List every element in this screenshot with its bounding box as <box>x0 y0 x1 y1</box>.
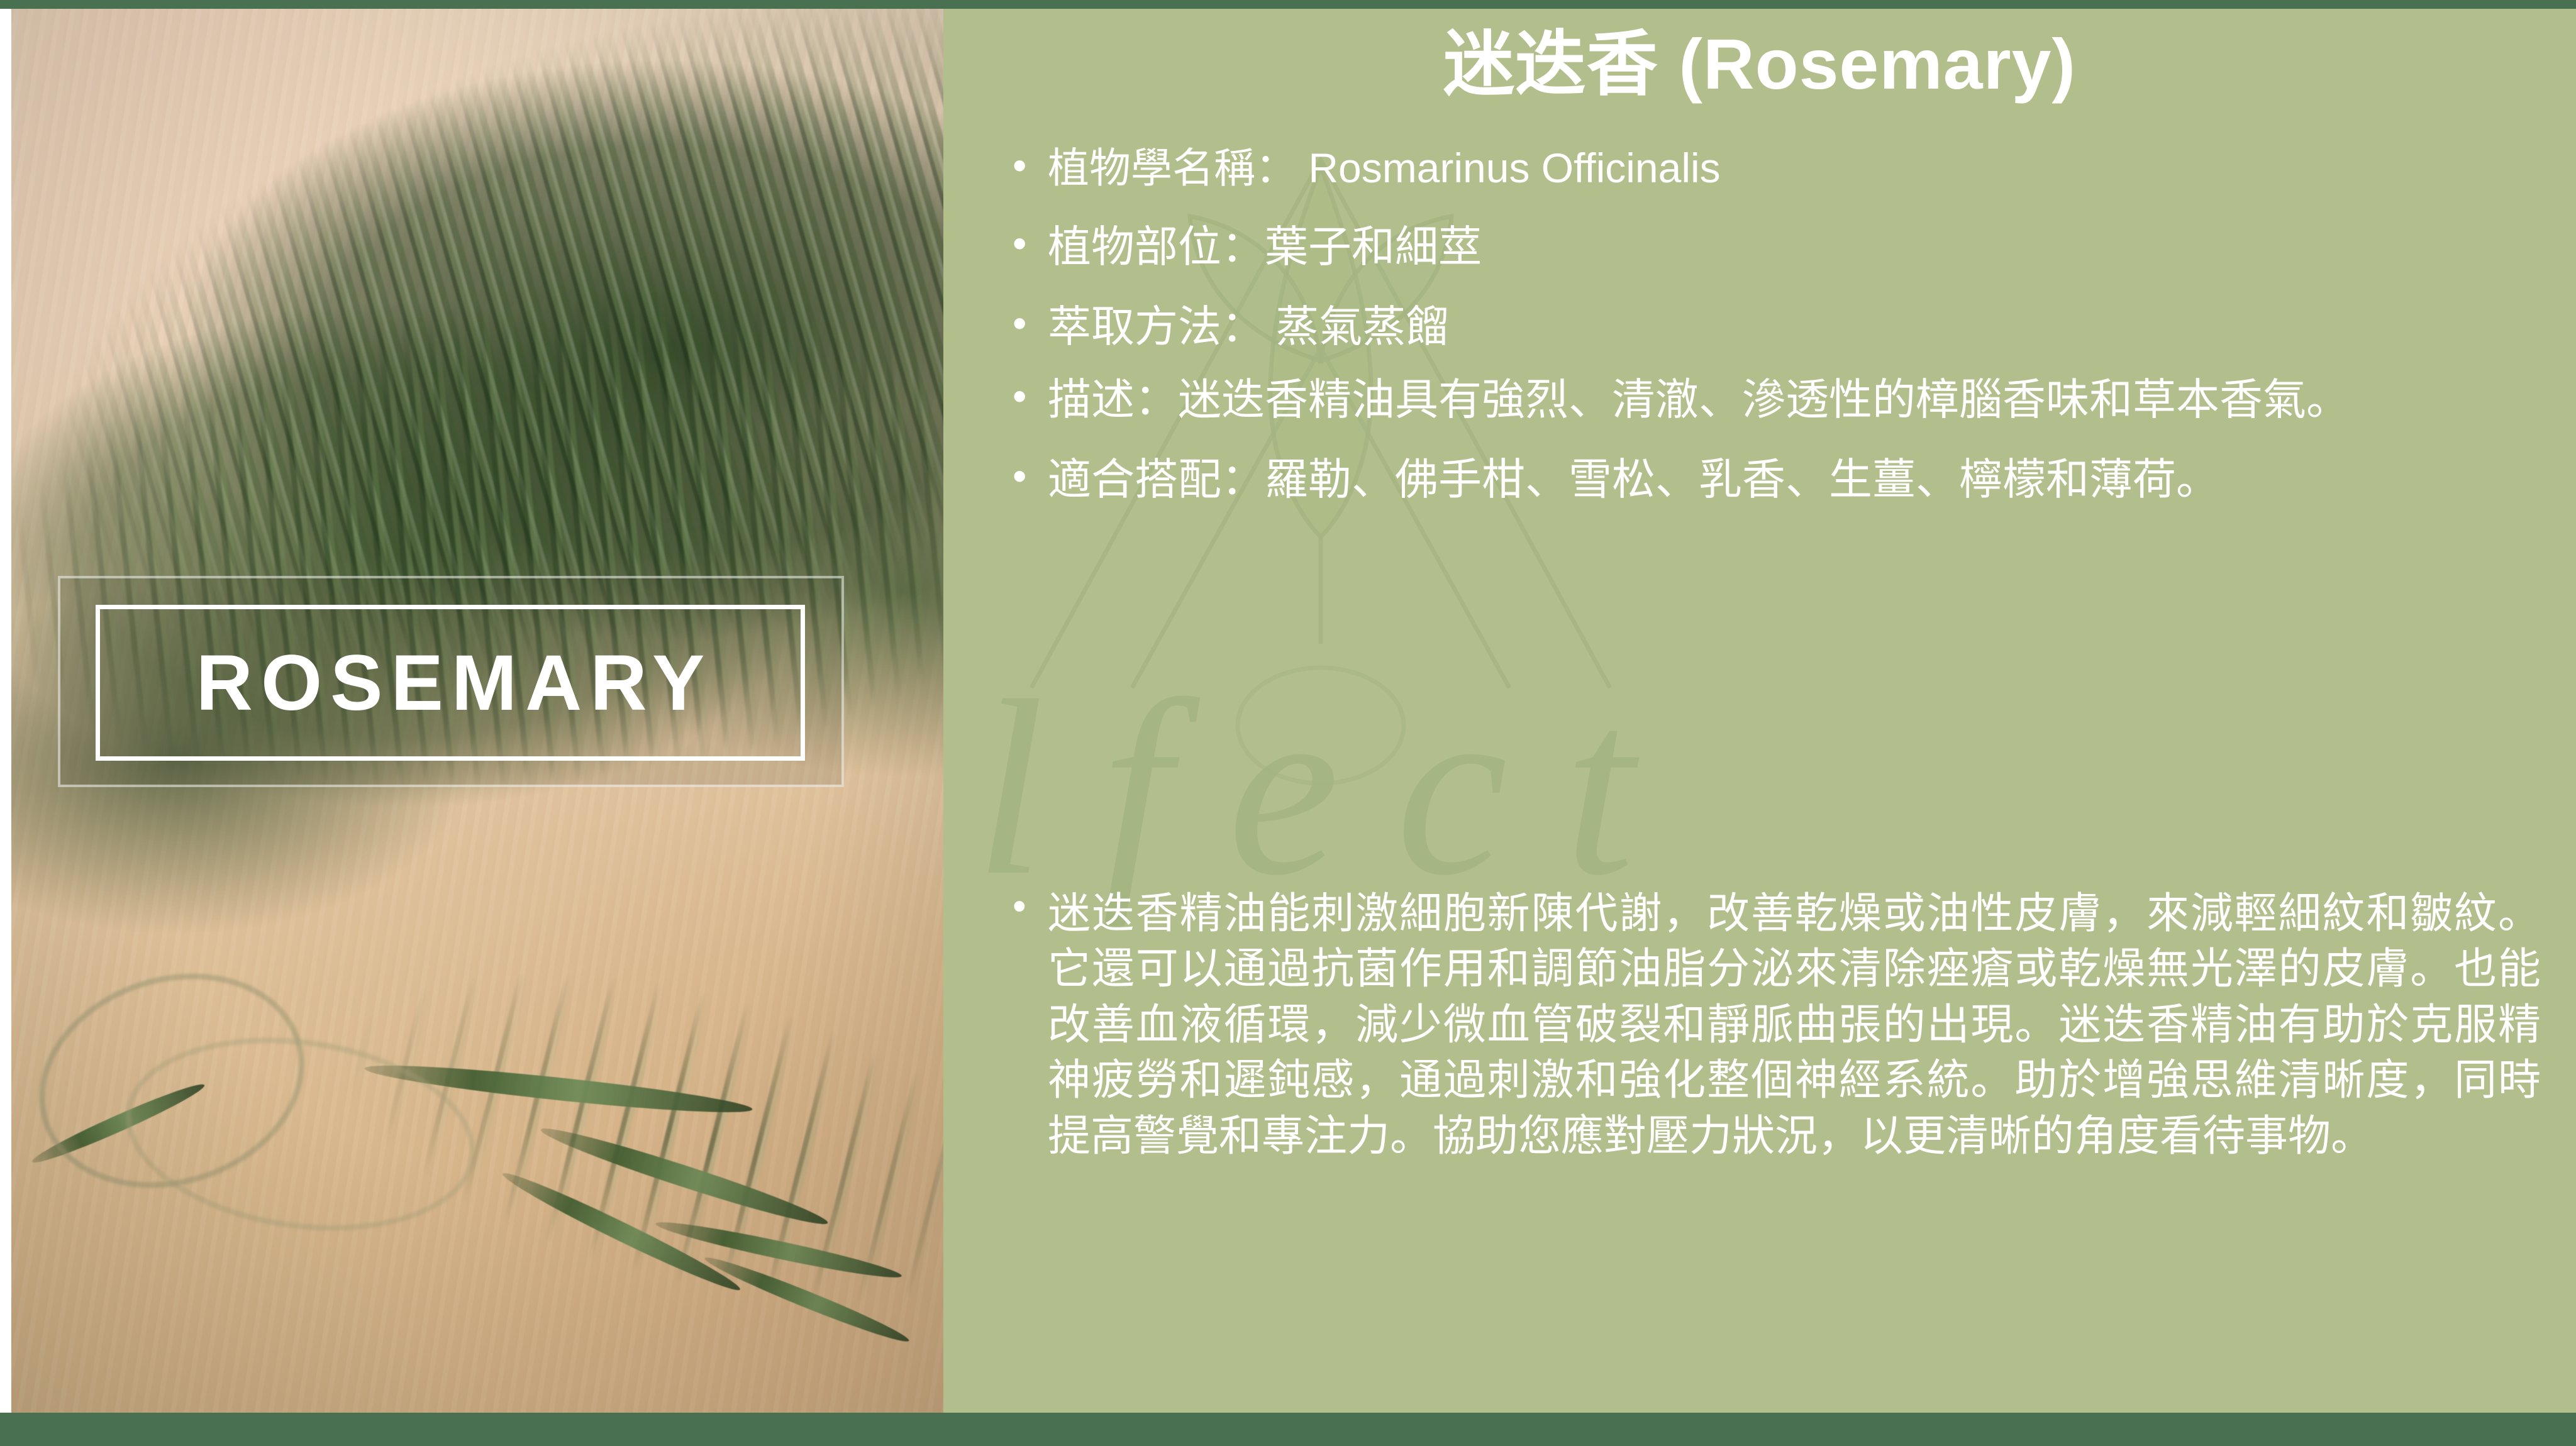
bullet-icon: • <box>1013 222 1048 265</box>
list-item-botanical-name: • 植物學名稱： Rosmarinus Officinalis <box>1013 144 2541 193</box>
blends-with-value: 羅勒、佛手柑、雪松、乳香、生薑、檸檬和薄荷。 <box>1265 456 2219 504</box>
bullet-icon: • <box>1013 375 1048 418</box>
extraction-method-label: 萃取方法： <box>1048 303 1265 351</box>
blends-with-label: 適合搭配： <box>1048 456 1265 504</box>
slide-root: ROSEMARY lfect 迷迭香 (Rosemary) <box>0 0 2576 1446</box>
botanical-name-value: Rosmarinus Officinalis <box>1297 145 1721 191</box>
bottom-bar <box>0 1413 2576 1446</box>
list-item-description: • 描述：迷迭香精油具有強烈、清澈、滲透性的樟腦香味和草本香氣。 <box>1013 375 2541 426</box>
watermark-script-text: lfect <box>975 663 1690 914</box>
description-value: 迷迭香精油具有強烈、清澈、滲透性的樟腦香味和草本香氣。 <box>1178 376 2350 424</box>
list-item-blends-with: • 適合搭配：羅勒、佛手柑、雪松、乳香、生薑、檸檬和薄荷。 <box>1013 455 2541 505</box>
plant-part-text: 植物部位：葉子和細莖 <box>1048 222 2541 273</box>
fact-list: • 植物學名稱： Rosmarinus Officinalis • 植物部位：葉… <box>1013 144 2541 506</box>
plant-part-label: 植物部位： <box>1048 223 1265 271</box>
benefits-paragraph-text: 迷迭香精油能刺激細胞新陳代謝，改善乾燥或油性皮膚，來減輕細紋和皺紋。它還可以通過… <box>1048 886 2541 1164</box>
content-panel: lfect 迷迭香 (Rosemary) • 植物學名稱： Rosmarinus… <box>943 9 2576 1413</box>
rosemary-badge-label: ROSEMARY <box>188 644 713 722</box>
plant-part-value: 葉子和細莖 <box>1265 223 1482 271</box>
extraction-method-value: 蒸氣蒸餾 <box>1265 303 1449 351</box>
description-label: 描述： <box>1048 376 1178 424</box>
botanical-name-text: 植物學名稱： Rosmarinus Officinalis <box>1048 144 2541 193</box>
bullet-icon: • <box>1013 455 1048 498</box>
description-text: 描述：迷迭香精油具有強烈、清澈、滲透性的樟腦香味和草本香氣。 <box>1048 375 2541 426</box>
rosemary-badge-inner-frame: ROSEMARY <box>96 605 805 761</box>
list-item-plant-part: • 植物部位：葉子和細莖 <box>1013 222 2541 273</box>
list-item-extraction-method: • 萃取方法： 蒸氣蒸餾 <box>1013 302 2541 353</box>
bullet-icon: • <box>1013 144 1048 187</box>
botanical-name-label: 植物學名稱： <box>1048 145 1297 191</box>
page-title: 迷迭香 (Rosemary) <box>943 23 2576 106</box>
blends-with-text: 適合搭配：羅勒、佛手柑、雪松、乳香、生薑、檸檬和薄荷。 <box>1048 455 2541 505</box>
bullet-icon: • <box>1013 302 1048 345</box>
extraction-method-text: 萃取方法： 蒸氣蒸餾 <box>1048 302 2541 353</box>
left-margin <box>0 9 11 1413</box>
top-rule <box>0 0 2576 9</box>
benefits-paragraph-block: • 迷迭香精油能刺激細胞新陳代謝，改善乾燥或油性皮膚，來減輕細紋和皺紋。它還可以… <box>1013 886 2541 1164</box>
bullet-icon: • <box>1013 886 1048 927</box>
